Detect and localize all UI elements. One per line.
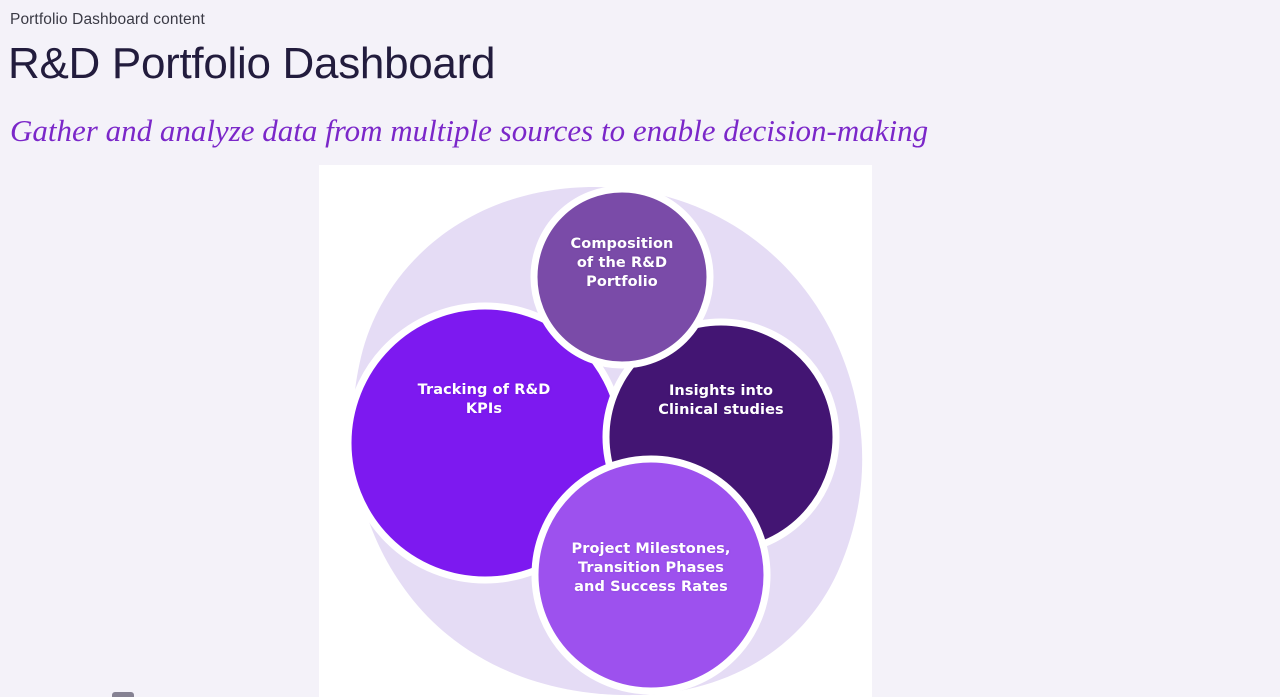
venn-diagram-svg [319,165,872,697]
circle-composition[interactable] [534,189,710,365]
venn-diagram: Composition of the R&D Portfolio Trackin… [319,165,872,697]
figure-panel: Composition of the R&D Portfolio Trackin… [319,165,872,697]
breadcrumb: Portfolio Dashboard content [10,11,205,30]
page-subtitle: Gather and analyze data from multiple so… [10,112,928,149]
page-title: R&D Portfolio Dashboard [8,39,495,90]
circle-milestones[interactable] [535,459,767,691]
cut-off-element [112,692,134,697]
